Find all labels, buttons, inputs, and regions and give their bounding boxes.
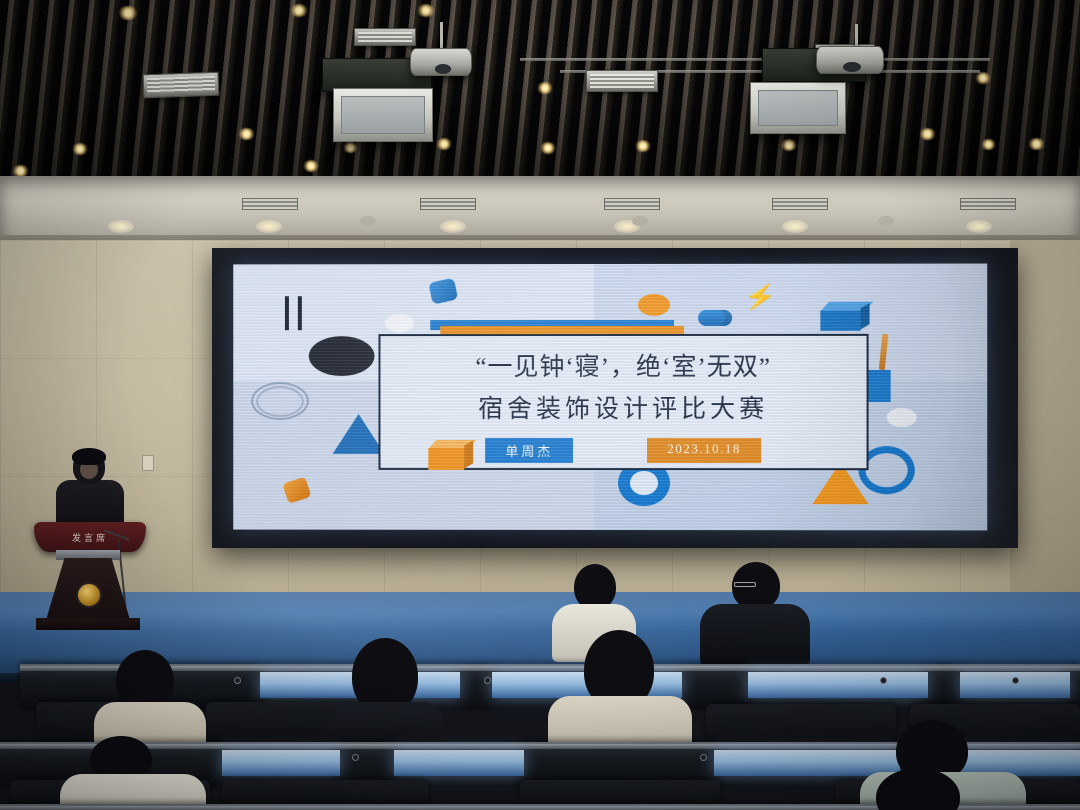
desk-monitor (394, 750, 524, 776)
soffit-downlight (782, 220, 808, 233)
audience-person (700, 562, 810, 658)
audience-person (60, 736, 200, 810)
spotlight (290, 4, 308, 17)
desk-knob (1012, 677, 1019, 684)
ceiling-pipe (520, 58, 990, 61)
desk-knob (352, 754, 359, 761)
podium-base (36, 618, 140, 630)
spotlight (417, 4, 435, 17)
soffit-downlight (440, 220, 466, 233)
podium-and-speaker: 发言席 (18, 436, 158, 636)
spotlight (238, 128, 255, 140)
podium-emblem-icon (76, 582, 102, 608)
desk-knob (700, 754, 707, 761)
soffit-vent (772, 198, 828, 210)
ac-cassette (333, 88, 433, 142)
soffit-speaker (632, 216, 648, 226)
spotlight (118, 6, 138, 20)
desk-monitor (960, 672, 1070, 698)
audience-person (330, 638, 442, 756)
blue-pill-decoration (698, 310, 732, 326)
desk-knob (880, 677, 887, 684)
auditorium-photo: ⚡ “一见钟‘寝’，绝‘室’无双” 宿舍装饰设计评比大赛 单周杰 2023.10… (0, 0, 1080, 810)
spotlight (975, 72, 991, 84)
podium-top: 发言席 (34, 522, 146, 552)
desk-knob (484, 677, 491, 684)
slide-title-line-1: “一见钟‘寝’，绝‘室’无双” (475, 347, 771, 383)
soffit-downlight (256, 220, 282, 233)
spotlight (537, 82, 553, 94)
led-screen: ⚡ “一见钟‘寝’，绝‘室’无双” 宿舍装饰设计评比大赛 单周杰 2023.10… (233, 264, 987, 531)
spotlight (436, 138, 452, 150)
ac-vent (586, 70, 658, 92)
spotlight (919, 128, 936, 140)
desk-knob (234, 677, 241, 684)
lightning-bolt-icon: ⚡ (743, 282, 778, 311)
audience-person (836, 768, 1016, 810)
spotlight (635, 140, 651, 152)
white-ellipse-decoration (384, 314, 414, 332)
soffit-speaker (360, 216, 376, 226)
soffit-vent (420, 198, 476, 210)
audience-area (0, 636, 1080, 810)
spotlight (781, 139, 797, 151)
spotlight (303, 160, 319, 172)
ac-vent (143, 72, 220, 99)
date-badge: 2023.10.18 (647, 438, 761, 463)
dark-ellipse-decoration (309, 336, 375, 376)
blue-triangle-decoration (333, 414, 385, 454)
ac-vent (354, 28, 416, 46)
ceiling-soffit (0, 176, 1080, 248)
desk-monitor (748, 672, 928, 698)
soffit-speaker (878, 216, 894, 226)
ac-cassette (750, 82, 846, 134)
soffit-vent (242, 198, 298, 210)
spotlight (540, 142, 556, 154)
orange-ellipse-decoration (638, 294, 670, 316)
soffit-vent (604, 198, 660, 210)
ceiling (0, 0, 1080, 182)
podium-label: 发言席 (72, 531, 108, 544)
slide-badges: 单周杰 2023.10.18 (485, 438, 761, 463)
spotlight (981, 139, 996, 150)
spotlight (1028, 138, 1045, 150)
white-ellipse-2-decoration (887, 408, 917, 427)
orange-cube-decoration (428, 440, 474, 472)
back-wall-right (1010, 240, 1080, 640)
speaker-hair (72, 448, 106, 465)
projector (816, 46, 884, 74)
spotlight (343, 142, 358, 153)
spotlight (72, 143, 88, 155)
soffit-downlight (108, 220, 134, 233)
blue-3d-box-decoration (820, 302, 870, 332)
soffit-vent (960, 198, 1016, 210)
presenter-badge: 单周杰 (485, 438, 573, 463)
desk-monitor (222, 750, 340, 776)
double-bars-decoration (285, 296, 307, 330)
soffit-downlight (966, 220, 992, 233)
ring-outline-inner-decoration (256, 386, 304, 417)
projector (410, 48, 472, 76)
slide-title-line-2: 宿舍装饰设计评比大赛 (478, 389, 768, 425)
